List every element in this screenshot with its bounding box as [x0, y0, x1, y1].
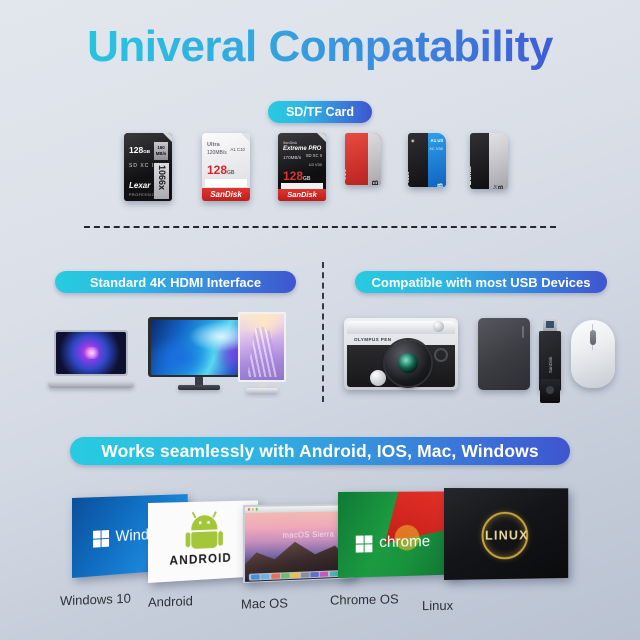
android-torso	[191, 531, 217, 549]
card-capacity: 128GB	[129, 145, 150, 155]
card-capacity: 256GB	[498, 185, 505, 189]
card-extra: A1 C10	[230, 147, 245, 152]
os-caption-windows: Windows 10	[60, 591, 131, 609]
card-line: Ultra	[207, 142, 220, 148]
card-capacity: 32GB	[371, 180, 380, 185]
card-notch	[317, 133, 326, 142]
portrait-panel	[238, 312, 286, 382]
card-brand: SanDiskUltra	[345, 152, 348, 180]
os-card-linux: LINUX	[444, 488, 568, 580]
macos-zoom-dot	[256, 508, 259, 511]
card-capacity: 128GB	[207, 163, 235, 177]
card-notch	[241, 133, 250, 142]
android-arm-left	[186, 532, 191, 547]
card-capacity-unit: GB	[227, 170, 235, 176]
usb-shell: SanDisk	[539, 331, 561, 391]
dock-icon	[271, 573, 280, 578]
os-caption-chromeos: Chrome OS	[330, 591, 399, 607]
badge-sd-tf-card: SD/TF Card	[268, 101, 372, 123]
card-white-strip	[205, 179, 247, 187]
usb-cap	[540, 379, 560, 403]
android-wordmark: ANDROID	[169, 551, 231, 568]
card-class-2: U3 V30	[309, 162, 322, 167]
widescreen-monitor-device	[148, 317, 250, 391]
card-capacity-unit: GB	[303, 176, 311, 182]
section-divider-horizontal	[84, 226, 556, 228]
macos-wordmark: macOS Sierra	[282, 530, 334, 540]
camera-rear-dial	[434, 348, 448, 362]
laptop-base	[48, 382, 134, 388]
android-arm-right	[218, 531, 223, 546]
memory-card-lexar-1066x-256gb-micro: Lexar microSD 1066x 256GB	[470, 133, 508, 189]
card-brand: SanDisk	[278, 189, 326, 201]
dock-icon	[251, 574, 260, 579]
camera-brand: OLYMPUS PEN	[354, 337, 391, 342]
monitor-screen	[151, 320, 248, 375]
android-eye-right	[207, 521, 210, 524]
card-brand: Lexar633x	[408, 164, 411, 183]
camera-lens	[385, 340, 431, 386]
dock-icon	[330, 571, 338, 576]
external-ssd-device	[478, 318, 530, 390]
linux-wordmark: LINUX	[444, 527, 568, 543]
dock-icon	[320, 571, 328, 576]
dock-icon	[281, 573, 290, 578]
portrait-screen	[240, 314, 284, 380]
macos-minimize-dot	[252, 508, 255, 511]
card-line: Ultra	[345, 152, 348, 180]
dock-icon	[301, 572, 309, 577]
chrome-window-icon	[356, 535, 373, 552]
camera-device: OLYMPUS PEN	[344, 318, 458, 390]
dock-icon	[291, 572, 299, 577]
card-speed-badge: 160 MB/s	[154, 142, 168, 160]
page-title: Univeral Compatability	[0, 22, 640, 72]
card-contact-area	[368, 133, 381, 185]
badge-usb-devices: Compatible with most USB Devices	[355, 271, 607, 293]
monitor-panel	[148, 317, 250, 377]
card-brand: SanDisk	[202, 188, 250, 201]
monitor-foot	[178, 385, 220, 390]
os-caption-macos: Mac OS	[241, 595, 288, 611]
usb-flash-drive-device: SanDisk	[539, 317, 561, 391]
card-class-1: SD XC II	[306, 153, 322, 158]
card-notch	[163, 133, 172, 142]
memory-card-sandisk-extreme-pro-128gb: SanDisk Extreme PRO 170MB/s SD XC II U3 …	[278, 133, 326, 201]
card-spec: microSD 1066x	[492, 185, 497, 189]
card-class-2: XC V30	[429, 146, 443, 151]
os-card-android: ANDROID	[148, 500, 258, 583]
memory-card-lexar-128gb: 128GB 160 MB/s SD XC I 1066x Lexar PROFE…	[124, 133, 172, 201]
dock-icon	[310, 571, 318, 576]
macos-close-dot	[247, 508, 250, 511]
portrait-monitor-device	[238, 312, 286, 394]
card-face-right	[489, 133, 508, 189]
android-robot-icon	[187, 515, 222, 549]
windows-logo-icon	[93, 530, 109, 548]
portrait-foot	[246, 388, 278, 393]
card-rating: 1066x	[157, 165, 167, 190]
memory-card-sandisk-ultra-32gb-micro: SanDiskUltra 32GB	[345, 133, 381, 185]
card-brand: Lexar	[470, 165, 473, 185]
usb-brand: SanDisk	[548, 357, 553, 373]
badge-hdmi-interface: Standard 4K HDMI Interface	[55, 271, 296, 293]
laptop-lid	[54, 330, 128, 376]
camera-mode-dial	[433, 321, 444, 332]
memory-card-sandisk-ultra-128gb: Ultra 120MB/s A1 C10 128GB SanDisk	[202, 133, 250, 201]
card-rating: 633x	[408, 164, 411, 183]
product-infographic: Univeral Compatability SD/TF Card 128GB …	[0, 0, 640, 640]
section-divider-vertical	[322, 262, 324, 402]
mouse-scroll-wheel	[590, 330, 596, 345]
laptop-screen	[56, 332, 126, 374]
card-small-top: SanDisk	[283, 141, 297, 145]
card-capacity: 64GB	[437, 183, 444, 187]
memory-card-lexar-633x-64gb-micro: ◉ A1 U3 XC V30 Lexar633x 64GB	[408, 133, 446, 187]
macos-mountain	[244, 534, 353, 575]
card-speed: 120MB/s	[207, 150, 227, 156]
card-capacity-unit: GB	[143, 149, 150, 154]
android-antenna-right	[213, 511, 217, 518]
camera-grip	[370, 370, 386, 386]
badge-os-compatibility: Works seamlessly with Android, IOS, Mac,…	[70, 437, 570, 465]
card-sub: PROFESSIONAL	[129, 193, 164, 197]
dock-icon	[261, 573, 270, 578]
os-caption-android: Android	[148, 593, 193, 609]
card-class-icons: SD XC I	[129, 163, 154, 169]
card-line: Extreme PRO	[283, 146, 321, 152]
wireless-mouse-device	[571, 320, 615, 388]
card-class-1: A1 U3	[431, 138, 443, 143]
os-card-chromeos: chrome	[338, 491, 460, 578]
card-class-icons: ◉	[411, 138, 415, 143]
macos-desktop: macOS Sierra	[244, 511, 353, 582]
android-eye-left	[199, 521, 202, 524]
os-caption-linux: Linux	[422, 598, 453, 613]
laptop-device	[48, 330, 134, 388]
card-speed: 170MB/s	[283, 155, 301, 160]
card-brand: Lexar	[129, 181, 150, 190]
card-capacity: 128GB	[283, 169, 311, 183]
chrome-wordmark: chrome	[379, 533, 430, 552]
